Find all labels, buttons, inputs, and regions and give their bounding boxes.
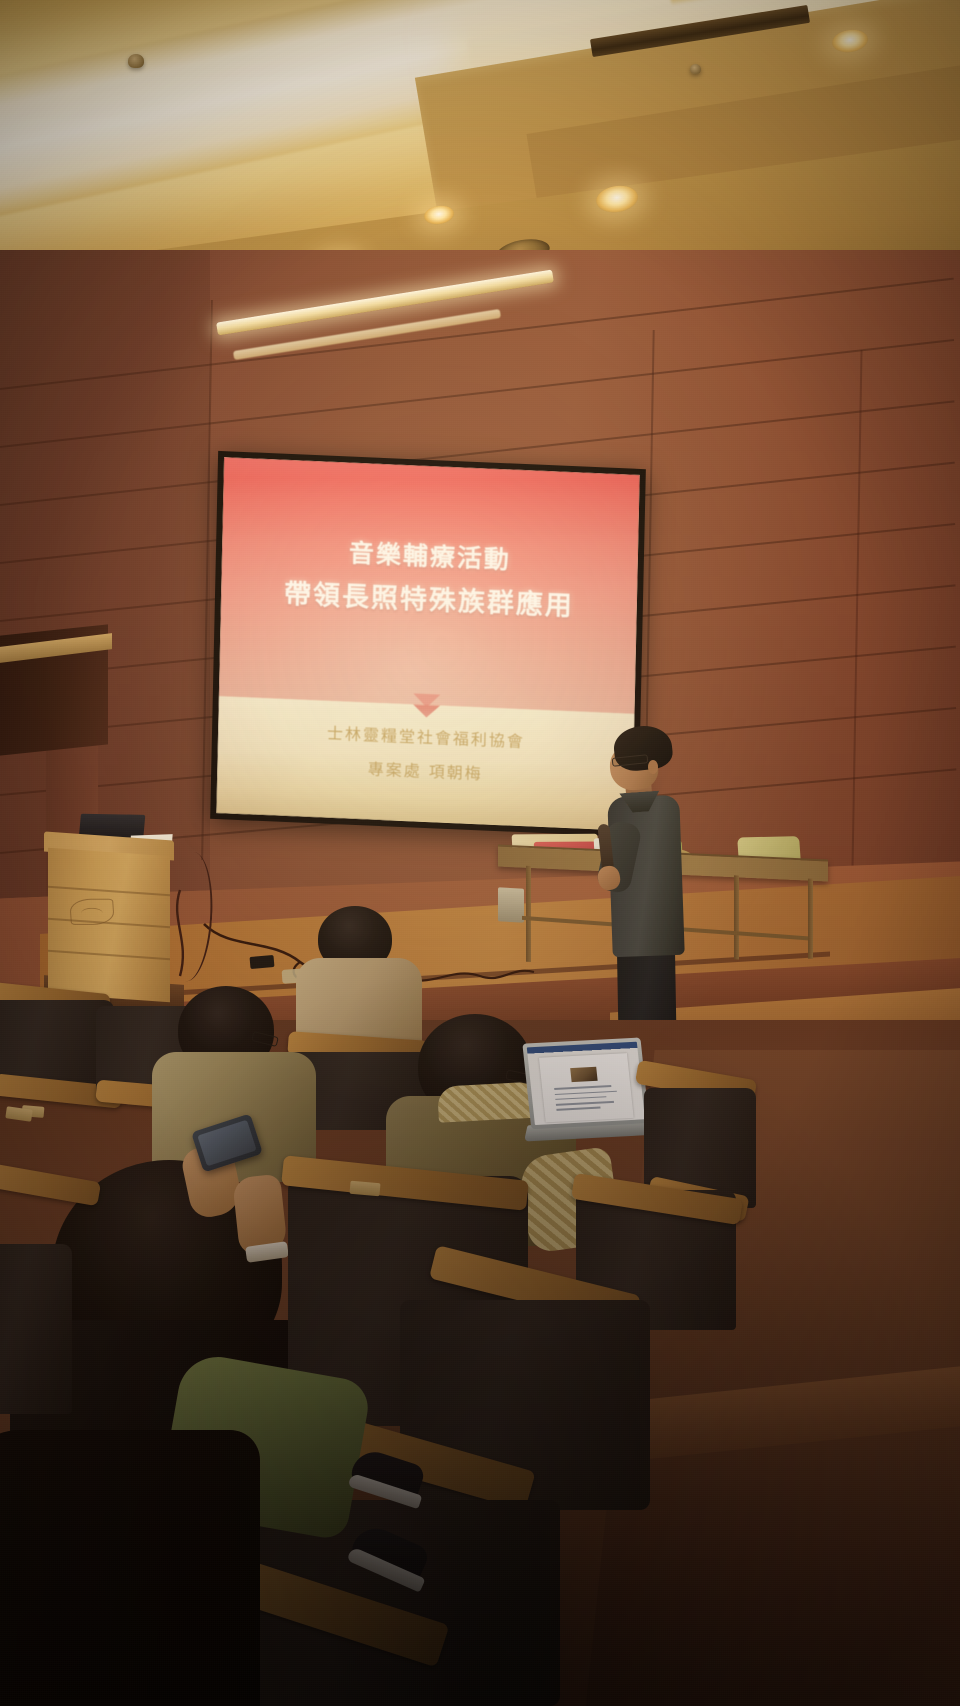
audience-laptop-lid (522, 1037, 649, 1129)
table-leg (734, 875, 739, 959)
fire-sprinkler-head (128, 54, 144, 68)
audience-laptop-screen (527, 1042, 645, 1125)
laptop-document-text-line (556, 1096, 607, 1100)
laptop-document-text-line (555, 1090, 617, 1095)
auditorium-seat (0, 1244, 72, 1414)
projection-screen-surface: 音樂輔療活動 帶領長照特殊族群應用 士林靈糧堂社會福利協會 專案處 項朝梅 (216, 457, 639, 831)
photo-scene: 音樂輔療活動 帶領長照特殊族群應用 士林靈糧堂社會福利協會 專案處 項朝梅 (0, 0, 960, 1706)
foreground-shadow-mass (0, 1430, 260, 1706)
table-leg (526, 866, 531, 962)
fire-sprinkler-head (690, 64, 701, 74)
laptop-document-text-line (556, 1101, 614, 1106)
audience-laptop[interactable] (522, 1037, 661, 1151)
seat-number-plate (349, 1181, 380, 1197)
laptop-document-text-line (557, 1107, 601, 1111)
laptop-document-page (539, 1053, 634, 1123)
projection-screen: 音樂輔療活動 帶領長照特殊族群應用 士林靈糧堂社會福利協會 專案處 項朝梅 (210, 451, 646, 837)
presenter-ear (648, 760, 658, 774)
wooden-lectern (44, 831, 174, 1002)
laptop-document-image (570, 1066, 598, 1082)
table-leg (808, 879, 813, 959)
lectern-engraved-emblem (69, 899, 115, 925)
laptop-document-text-line (555, 1085, 611, 1089)
presenter-with-microphone (592, 726, 702, 1066)
